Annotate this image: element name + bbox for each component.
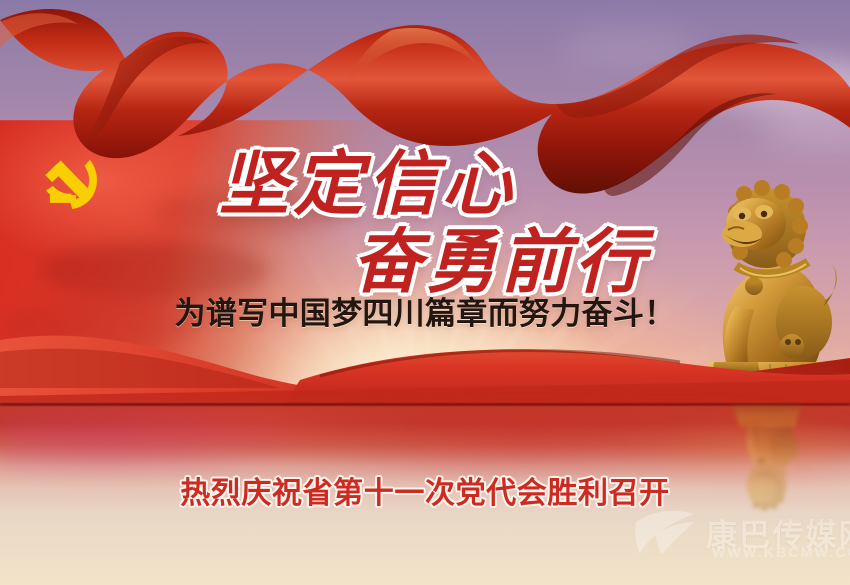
watermark-url: WWW.KBCMW.COM — [712, 544, 850, 560]
kbcmw-swoosh-logo-icon — [632, 508, 698, 564]
watermark: 康巴传媒网 WWW.KBCMW.COM — [632, 508, 846, 570]
bottom-banner-text: 热烈庆祝省第十一次党代会胜利召开 — [0, 468, 850, 512]
propaganda-poster: 坚定信心 奋勇前行 为谱写中国梦四川篇章而努力奋斗！ 热烈庆祝省第十一次党代会胜… — [0, 0, 850, 585]
poster-subtitle: 为谱写中国梦四川篇章而努力奋斗！ — [0, 288, 850, 333]
